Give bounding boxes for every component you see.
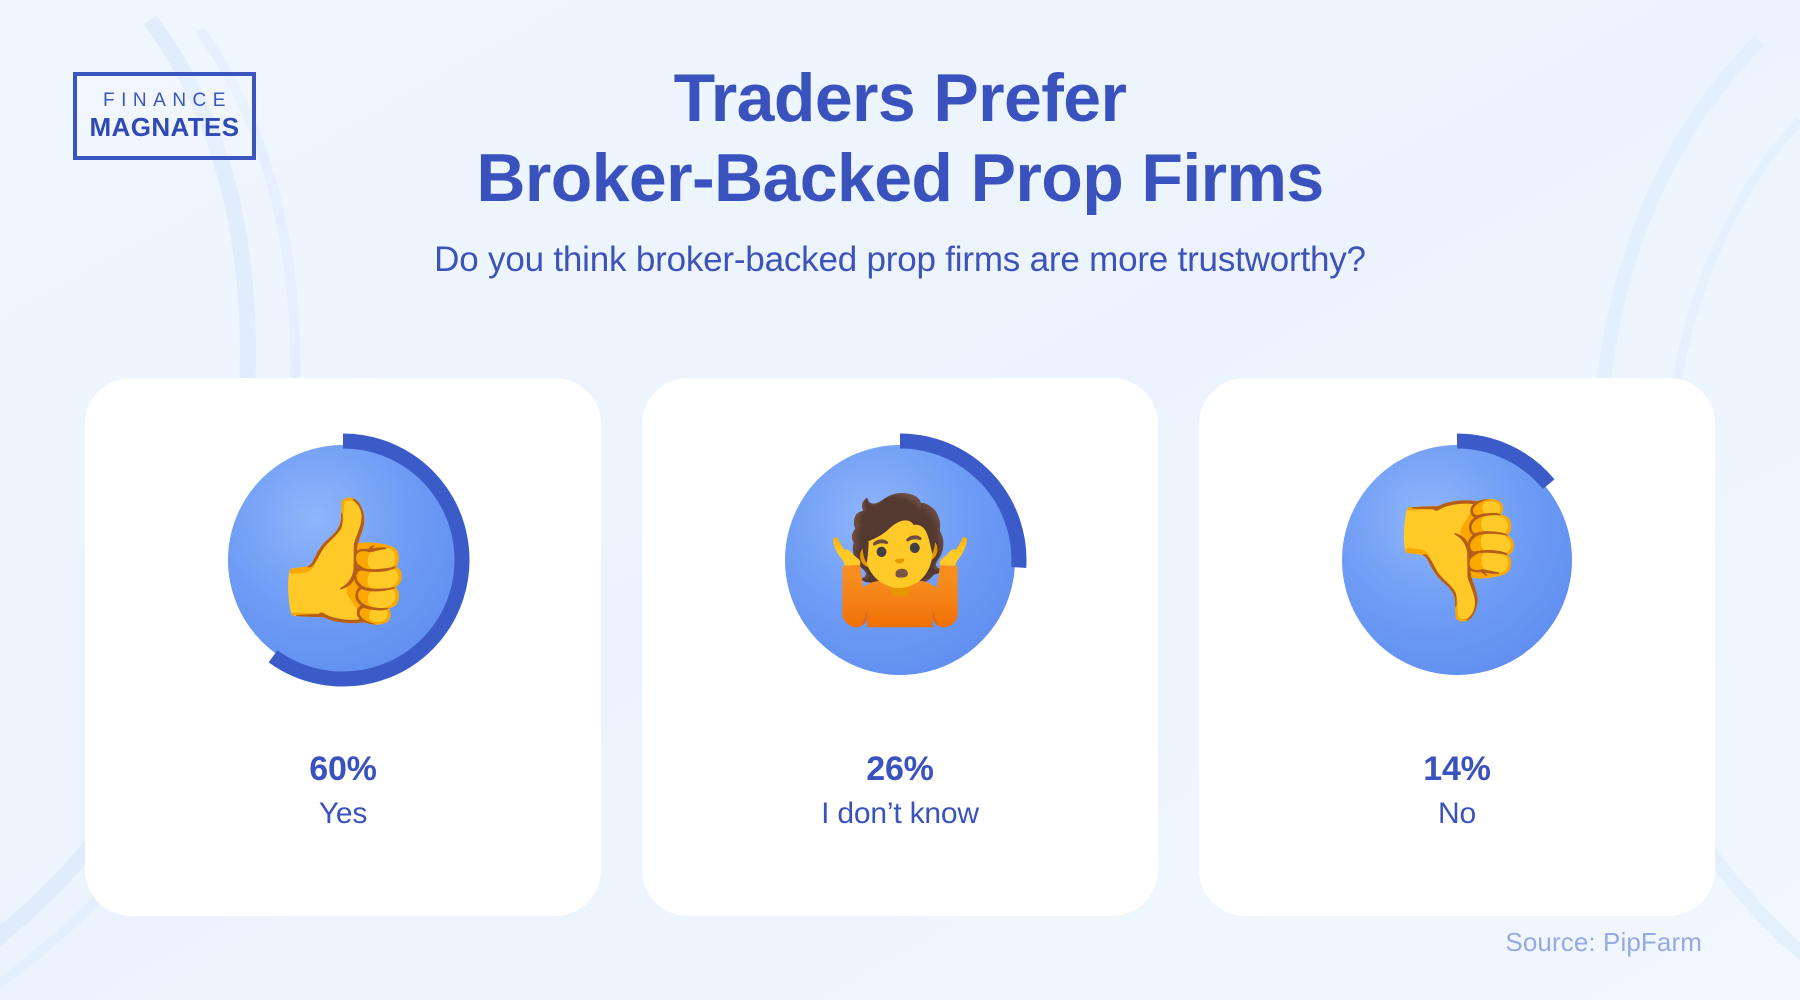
- thumbs-up-emoji: 👍: [209, 426, 477, 694]
- thumbs-down-emoji: 👎: [1323, 426, 1591, 694]
- donut-gauge-yes: 👍: [209, 426, 477, 694]
- answer-label-i-dont-know: I don’t know: [821, 797, 979, 831]
- result-card-i-dont-know: 🤷 26% I don’t know: [642, 378, 1158, 916]
- donut-gauge-i-dont-know: 🤷: [766, 426, 1034, 694]
- shrugging-person-emoji: 🤷: [766, 426, 1034, 694]
- percent-value-i-dont-know: 26%: [866, 750, 933, 789]
- donut-gauge-no: 👎: [1323, 426, 1591, 694]
- page-subtitle: Do you think broker-backed prop firms ar…: [0, 240, 1800, 280]
- title-line-2: Broker-Backed Prop Firms: [0, 138, 1800, 218]
- source-attribution: Source: PipFarm: [1505, 927, 1702, 958]
- header: Traders Prefer Broker-Backed Prop Firms …: [0, 58, 1800, 280]
- title-line-1: Traders Prefer: [0, 58, 1800, 138]
- page-title: Traders Prefer Broker-Backed Prop Firms: [0, 58, 1800, 218]
- answer-label-no: No: [1438, 797, 1476, 831]
- result-card-yes: 👍 60% Yes: [85, 378, 601, 916]
- answer-label-yes: Yes: [319, 797, 367, 831]
- result-card-no: 👎 14% No: [1199, 378, 1715, 916]
- results-card-row: 👍 60% Yes 🤷 26% I don’t know: [85, 378, 1715, 916]
- percent-value-yes: 60%: [309, 750, 376, 789]
- percent-value-no: 14%: [1423, 750, 1490, 789]
